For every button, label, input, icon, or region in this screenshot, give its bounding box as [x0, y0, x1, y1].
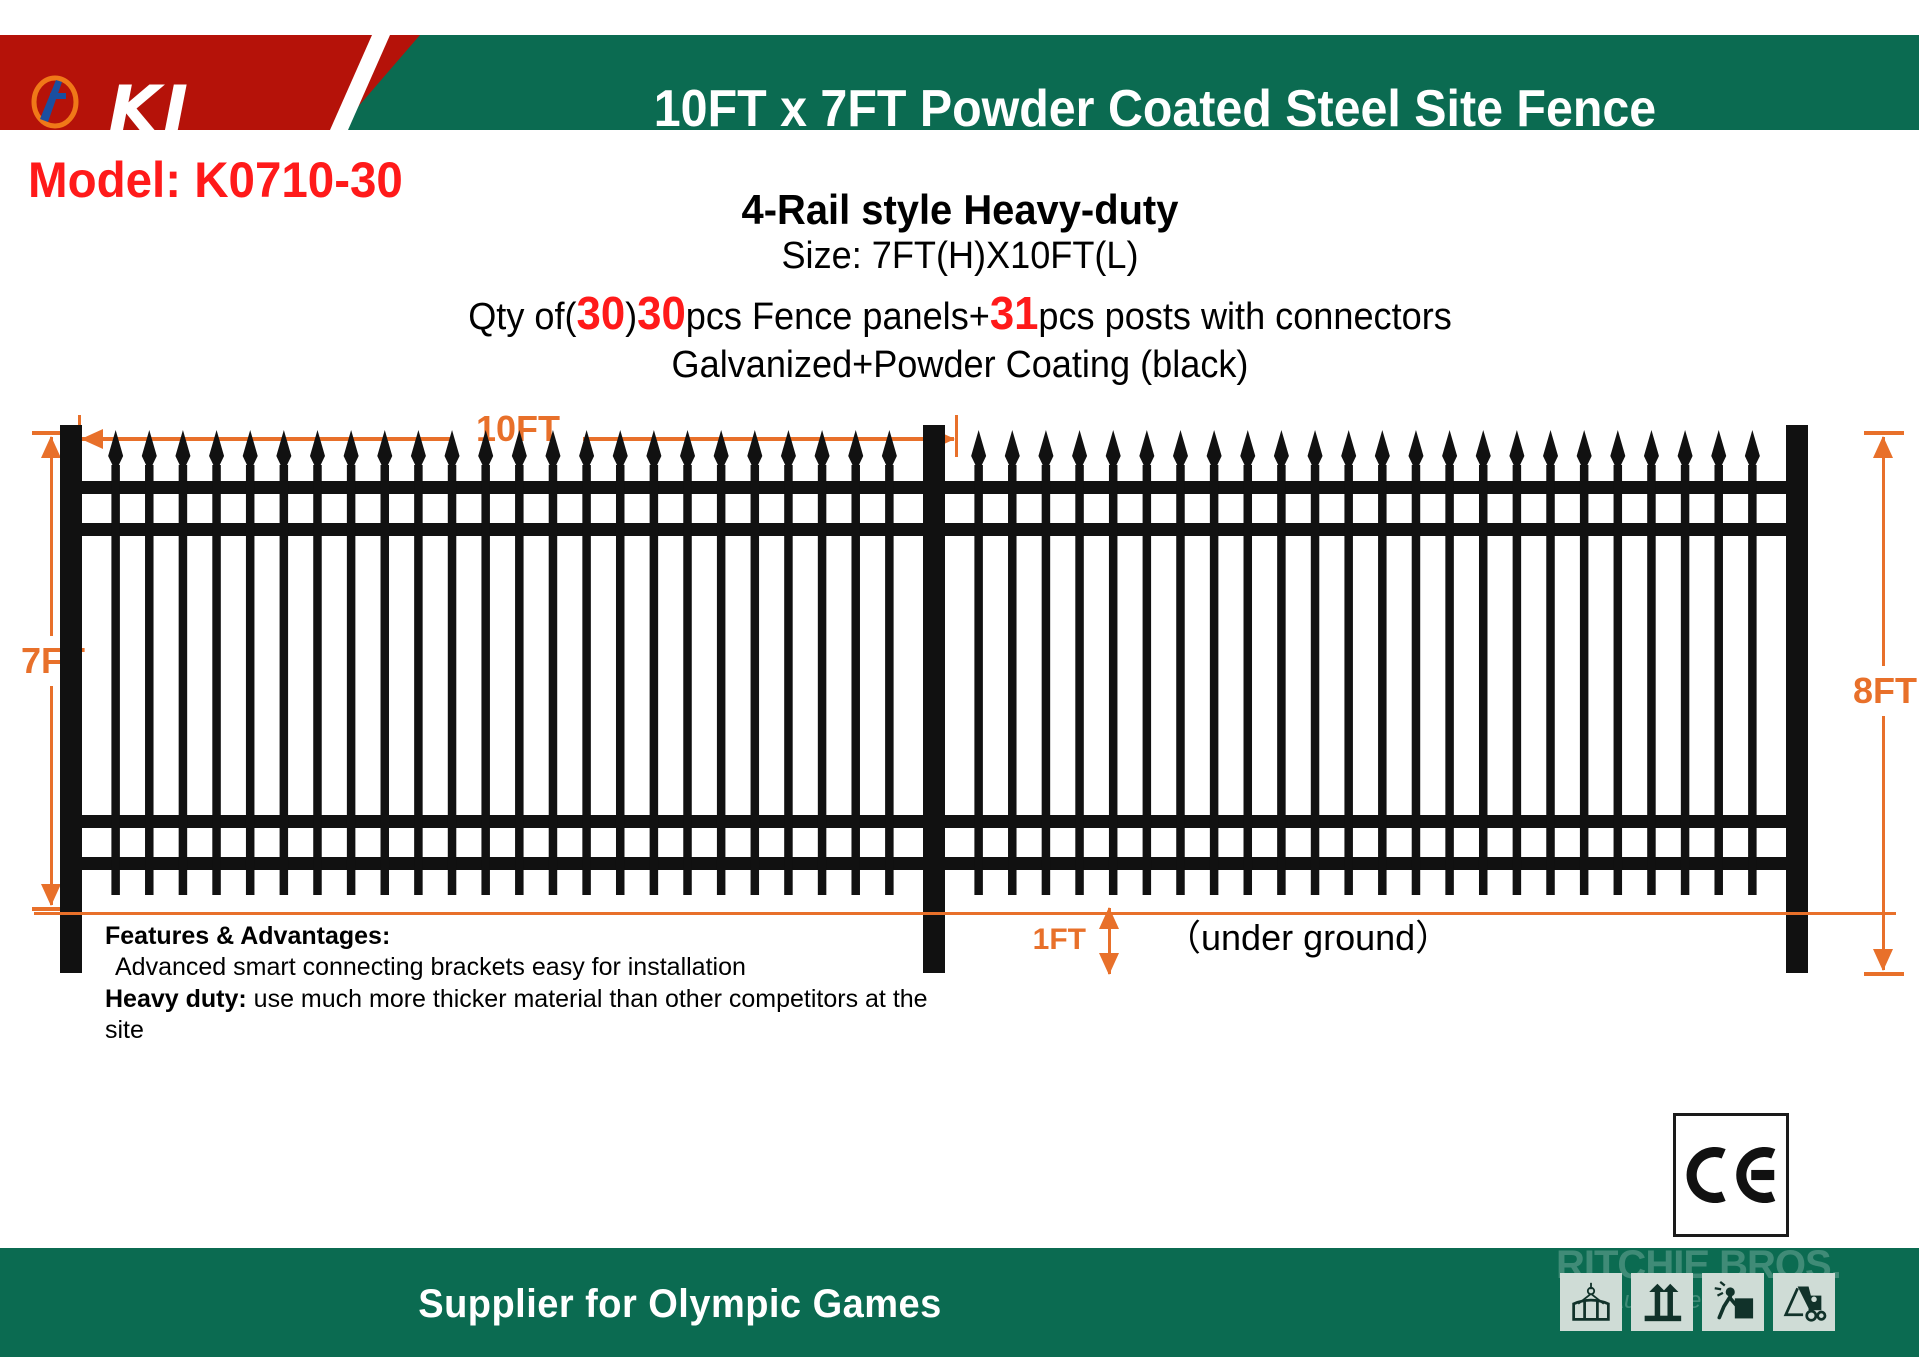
features-heading: Features & Advantages:	[105, 921, 965, 952]
poster-root: KJ 10FT x 7FT Powder Coated Steel Site F…	[0, 0, 1919, 1357]
kj-circle-logo-icon	[28, 75, 82, 129]
ground-line	[34, 912, 1896, 915]
spec-coating: Galvanized+Powder Coating (black)	[314, 342, 1606, 388]
fence-svg	[60, 425, 1860, 985]
qty-suffix: pcs posts with connectors	[1038, 296, 1451, 338]
fence-illustration	[60, 425, 1860, 985]
dimension-depth-1ft: 1FT	[1082, 902, 1138, 980]
dim-total-height-label: 8FT	[1850, 666, 1919, 716]
features-line-2: Heavy duty: use much more thicker materi…	[105, 984, 965, 1047]
spec-block: 4-Rail style Heavy-duty Size: 7FT(H)X10F…	[280, 186, 1640, 388]
spec-quantity: Qty of(30)30pcs Fence panels+31pcs posts…	[314, 285, 1606, 341]
page-title: 10FT x 7FT Powder Coated Steel Site Fenc…	[467, 83, 1843, 135]
dimension-total-height-8ft: 8FT	[1856, 431, 1912, 976]
dim-cap-top	[1864, 431, 1904, 435]
footer-text: Supplier for Olympic Games	[34, 1284, 1326, 1324]
features-line-2-label: Heavy duty:	[105, 985, 247, 1013]
fence-diagram: 10FT 7FT 8FT	[0, 415, 1919, 1245]
header-banner: KJ 10FT x 7FT Powder Coated Steel Site F…	[0, 35, 1919, 130]
features-line-1: Advanced smart connecting brackets easy …	[105, 952, 965, 983]
dim-arrow-up-icon	[1099, 907, 1119, 929]
dim-arrow-down-icon	[1873, 949, 1893, 971]
dim-arrow-up-icon	[1873, 436, 1893, 458]
ce-icon	[1685, 1146, 1777, 1204]
qty-value-b: 30	[637, 287, 686, 339]
spec-style-title: 4-Rail style Heavy-duty	[314, 186, 1606, 233]
underground-label: （under ground）	[1165, 920, 1451, 956]
dim-arrow-up-icon	[41, 436, 61, 458]
qty-value-a: 30	[577, 287, 626, 339]
qty-prefix: Qty of(	[468, 296, 576, 338]
dim-cap-bottom	[1864, 972, 1904, 976]
features-block: Features & Advantages: Advanced smart co…	[105, 921, 965, 1046]
spec-size: Size: 7FT(H)X10FT(L)	[314, 233, 1606, 279]
dim-arrow-down-icon	[41, 884, 61, 906]
brand-name: KJ	[108, 78, 190, 146]
qty-mid-1: )	[625, 296, 637, 338]
dim-depth-label: 1FT	[1024, 918, 1086, 961]
qty-value-c: 31	[990, 287, 1039, 339]
dim-arrow-down-icon	[1099, 953, 1119, 975]
qty-mid-2: pcs Fence panels+	[686, 296, 990, 338]
ce-mark-badge	[1673, 1113, 1789, 1237]
